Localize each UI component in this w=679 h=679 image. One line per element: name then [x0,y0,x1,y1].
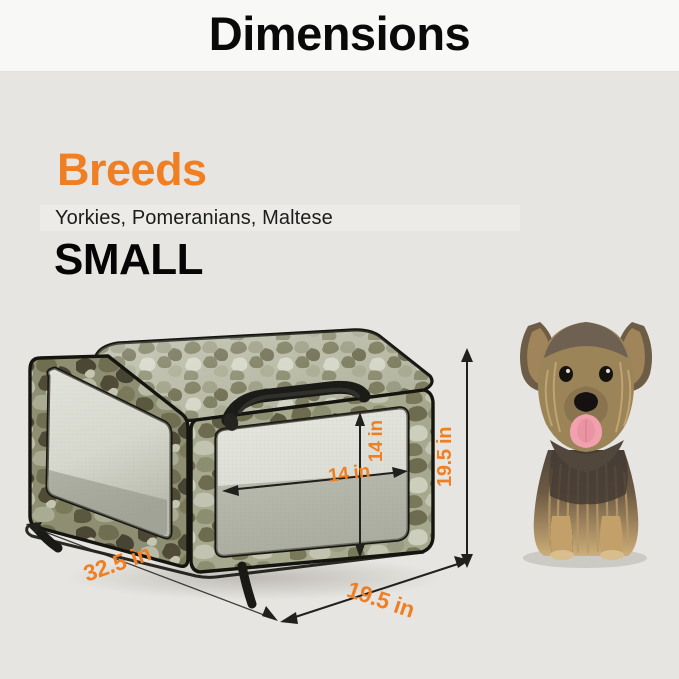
door-height-dimension-label: 14 in [366,420,388,462]
product-illustration [0,300,679,679]
header-divider [0,71,679,72]
breeds-list: Yorkies, Pomeranians, Maltese [55,205,333,231]
size-label: SMALL [54,236,203,284]
breeds-heading: Breeds [57,145,207,195]
dog-eye-left [559,366,573,382]
yorkshire-terrier-illustration [520,322,652,568]
dog-eye-left-highlight [566,369,570,373]
depth-arrow-left [280,612,298,624]
dog-eye-right-highlight [606,369,610,373]
height-arrow-top [461,348,473,362]
height-dimension-label: 19.5 in [434,427,457,487]
dog-paw-right [600,550,624,560]
dog-paw-left [550,550,574,560]
width-arrow-right [262,606,278,621]
infographic-page: Dimensions Breeds Yorkies, Pomeranians, … [0,0,679,679]
page-title: Dimensions [0,4,679,64]
dog-eye-right [599,366,613,382]
dog-front-leg-right [600,516,623,554]
